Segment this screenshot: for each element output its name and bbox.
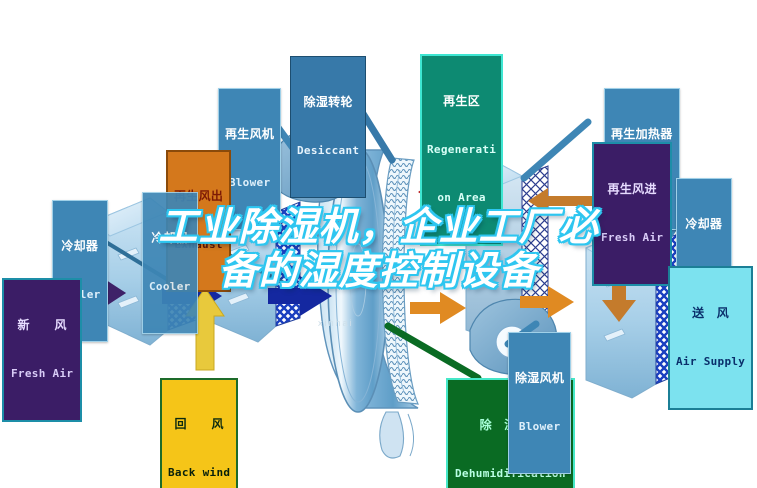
label-regen-heater-cn: 再生加热器	[611, 128, 673, 141]
label-regen-blower-cn: 再生风机	[225, 128, 274, 141]
label-fresh-air-process-cn: 新 风	[11, 319, 73, 332]
label-dehumid-blower-cn: 除湿风机	[515, 372, 564, 385]
label-air-supply-en: Air Supply	[676, 356, 745, 368]
label-back-wind: 回 风 Back wind	[160, 378, 238, 488]
label-cooler-right-cn: 冷却器	[683, 218, 725, 231]
label-fresh-air-regen: 再生风进 Fresh Air	[592, 142, 672, 286]
label-cooler-left-inner-en: Cooler	[149, 281, 191, 293]
label-cooler-left-outer-cn: 冷却器	[59, 240, 101, 253]
watermark-text: xinhai	[318, 318, 354, 328]
label-regeneration-area: 再生区 Regenerati on Area	[420, 54, 503, 246]
label-fresh-air-regen-en: Fresh Air	[601, 232, 663, 244]
label-fresh-air-process: 新 风 Fresh Air	[2, 278, 82, 422]
label-regeneration-area-en2: on Area	[427, 192, 496, 204]
label-regeneration-area-cn: 再生区	[427, 95, 496, 108]
label-regen-blower-en: Blower	[225, 177, 274, 189]
arrow-dehumid-orange-1	[410, 292, 466, 324]
label-desiccant: 除湿转轮 Desiccant	[290, 56, 366, 198]
dehumidifier-schematic-image: 除湿转轮 Desiccant 再生风机 Blower 再生区 Regenerat…	[0, 0, 757, 488]
label-air-supply: 送 风 Air Supply	[668, 266, 753, 410]
label-desiccant-cn: 除湿转轮	[297, 96, 359, 109]
label-dehumid-blower-en: Blower	[515, 421, 564, 433]
label-air-supply-cn: 送 风	[676, 307, 745, 320]
label-fresh-air-process-en: Fresh Air	[11, 368, 73, 380]
label-back-wind-cn: 回 风	[168, 418, 230, 431]
label-fresh-air-regen-cn: 再生风进	[601, 183, 663, 196]
label-dehumid-blower: 除湿风机 Blower	[508, 332, 571, 474]
label-back-wind-en: Back wind	[168, 467, 230, 479]
label-regeneration-area-en1: Regenerati	[427, 144, 496, 156]
label-cooler-left-inner: 冷却器 Cooler	[142, 192, 198, 334]
label-desiccant-en: Desiccant	[297, 145, 359, 157]
label-cooler-left-inner-cn: 冷却器	[149, 232, 191, 245]
